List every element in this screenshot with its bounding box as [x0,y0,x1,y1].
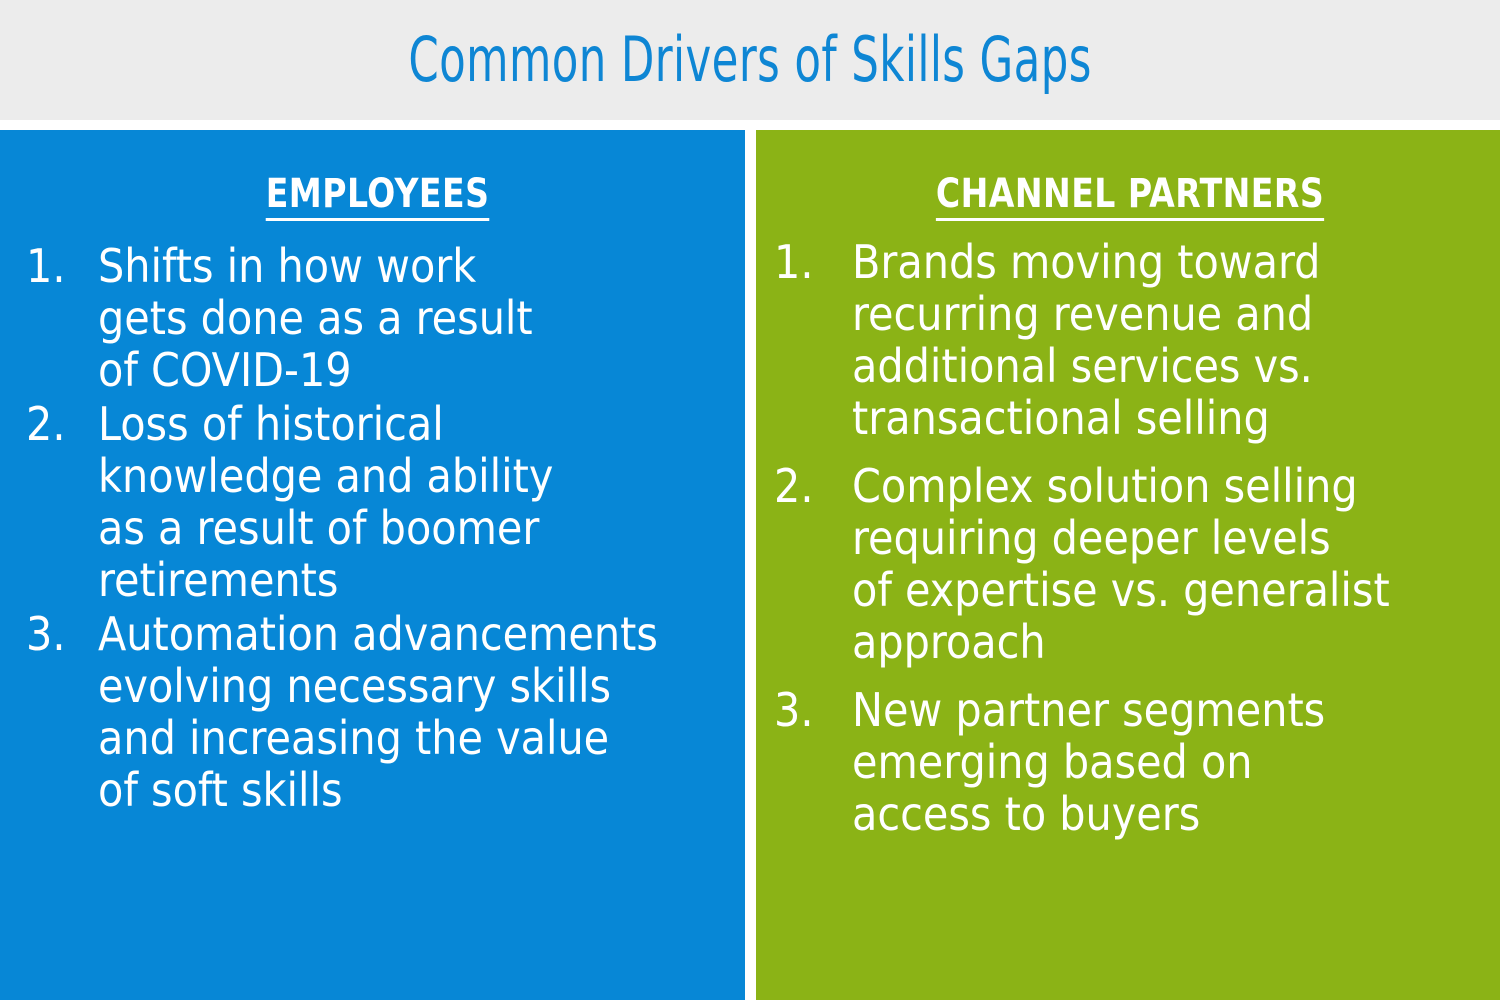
panel-channel-partners-heading-label: CHANNEL PARTNERS [936,172,1324,221]
list-item: 1. Brands moving toward recurring revenu… [774,237,1486,445]
list-item-text: Shifts in how work gets done as a result… [98,241,729,397]
list-item-number: 3. [774,685,852,737]
list-item: 3. Automation advancements evolving nece… [26,609,729,817]
list-item-number: 1. [26,241,98,293]
list-item-number: 3. [26,609,98,661]
panel-channel-partners-heading: CHANNEL PARTNERS [774,172,1486,221]
panel-employees-heading: EMPLOYEES [26,172,729,221]
columns-container: EMPLOYEES 1. Shifts in how work gets don… [0,130,1500,1000]
panel-employees: EMPLOYEES 1. Shifts in how work gets don… [0,130,745,1000]
list-item: 2. Loss of historical knowledge and abil… [26,399,729,607]
column-gutter [745,130,756,1000]
panel-channel-partners: CHANNEL PARTNERS 1. Brands moving toward… [756,130,1500,1000]
slide-root: Common Drivers of Skills Gaps EMPLOYEES … [0,0,1500,1000]
list-item: 1. Shifts in how work gets done as a res… [26,241,729,397]
list-item-number: 2. [26,399,98,451]
list-item-text: Automation advancements evolving necessa… [98,609,729,817]
list-item-text: Loss of historical knowledge and ability… [98,399,729,607]
page-title: Common Drivers of Skills Gaps [408,29,1091,91]
employees-list: 1. Shifts in how work gets done as a res… [26,241,729,817]
list-item-number: 1. [774,237,852,289]
list-item: 3. New partner segments emerging based o… [774,685,1486,841]
list-item-number: 2. [774,461,852,513]
list-item-text: Brands moving toward recurring revenue a… [852,237,1486,445]
panel-employees-heading-label: EMPLOYEES [266,172,490,221]
title-band: Common Drivers of Skills Gaps [0,0,1500,120]
channel-partners-list: 1. Brands moving toward recurring revenu… [774,237,1486,841]
list-item-text: New partner segments emerging based on a… [852,685,1486,841]
list-item-text: Complex solution selling requiring deepe… [852,461,1486,669]
list-item: 2. Complex solution selling requiring de… [774,461,1486,669]
